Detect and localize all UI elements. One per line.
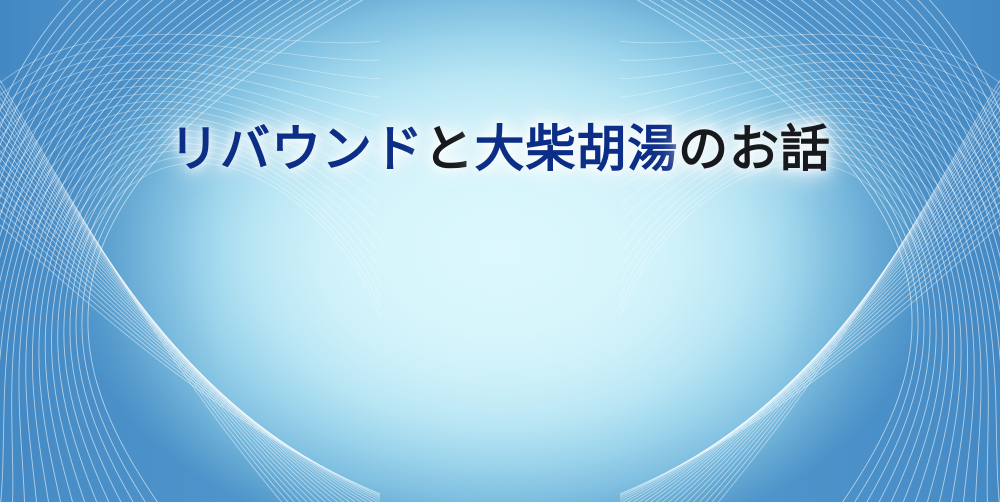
- decorative-title-banner: リバウンドと大柴胡湯のお話: [0, 0, 1000, 502]
- curved-line-fan-right: [620, 0, 1000, 502]
- curved-line-fan-left: [0, 0, 380, 502]
